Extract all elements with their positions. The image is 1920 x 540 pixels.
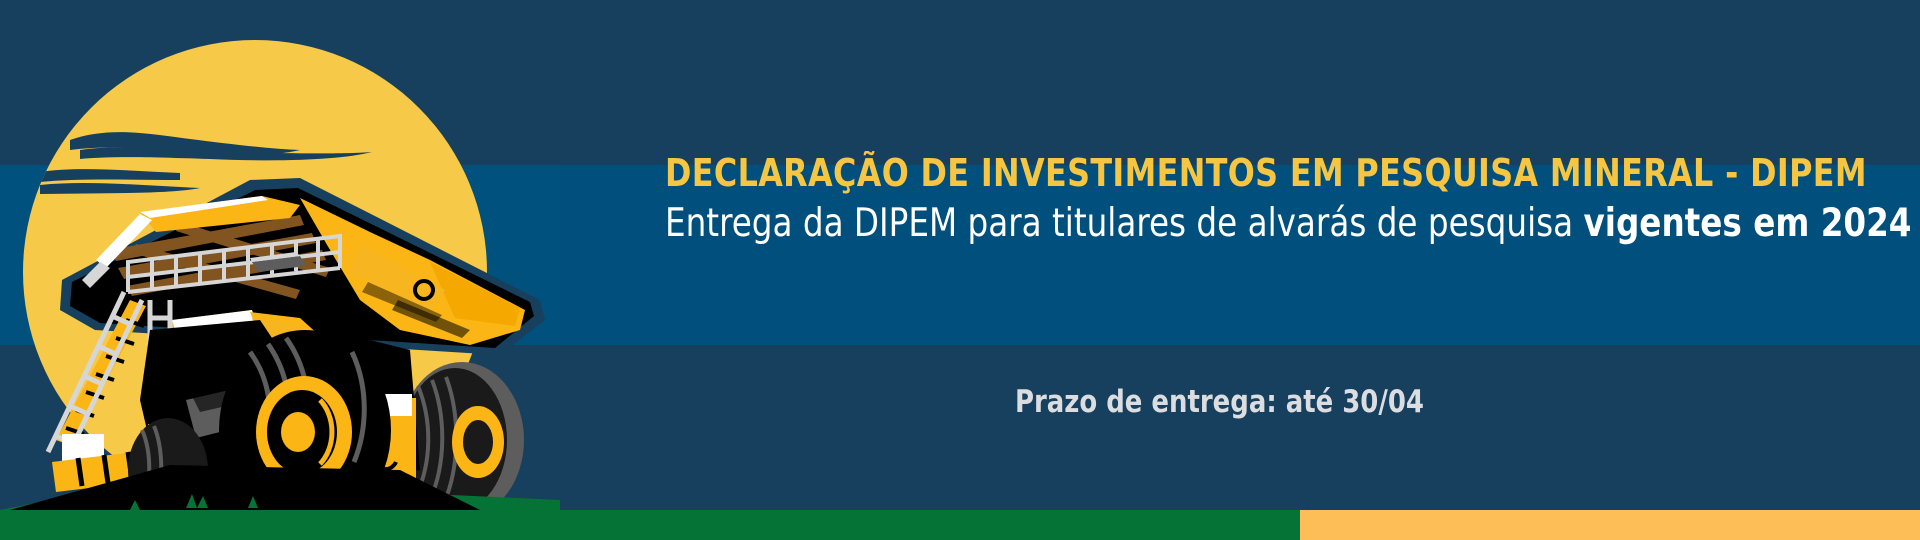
banner-text-block: DECLARAÇÃO DE INVESTIMENTOS EM PESQUISA … [665, 150, 1880, 252]
green-flag-bar [0, 510, 1300, 540]
subtitle-emphasis-text: vigentes em 2024 [1584, 201, 1912, 246]
dipem-banner: DECLARAÇÃO DE INVESTIMENTOS EM PESQUISA … [0, 0, 1920, 540]
banner-subtitle: Entrega da DIPEM para titulares de alvar… [665, 196, 1795, 252]
subtitle-plain-text: Entrega da DIPEM para titulares de alvar… [665, 201, 1584, 246]
deadline-text: Prazo de entrega: até 30/04 [1015, 384, 1424, 420]
amber-flag-bar [1300, 510, 1920, 540]
page-title: DECLARAÇÃO DE INVESTIMENTOS EM PESQUISA … [665, 150, 1795, 196]
mining-truck-artwork [0, 0, 560, 540]
mining-haul-truck-illustration [0, 0, 560, 540]
